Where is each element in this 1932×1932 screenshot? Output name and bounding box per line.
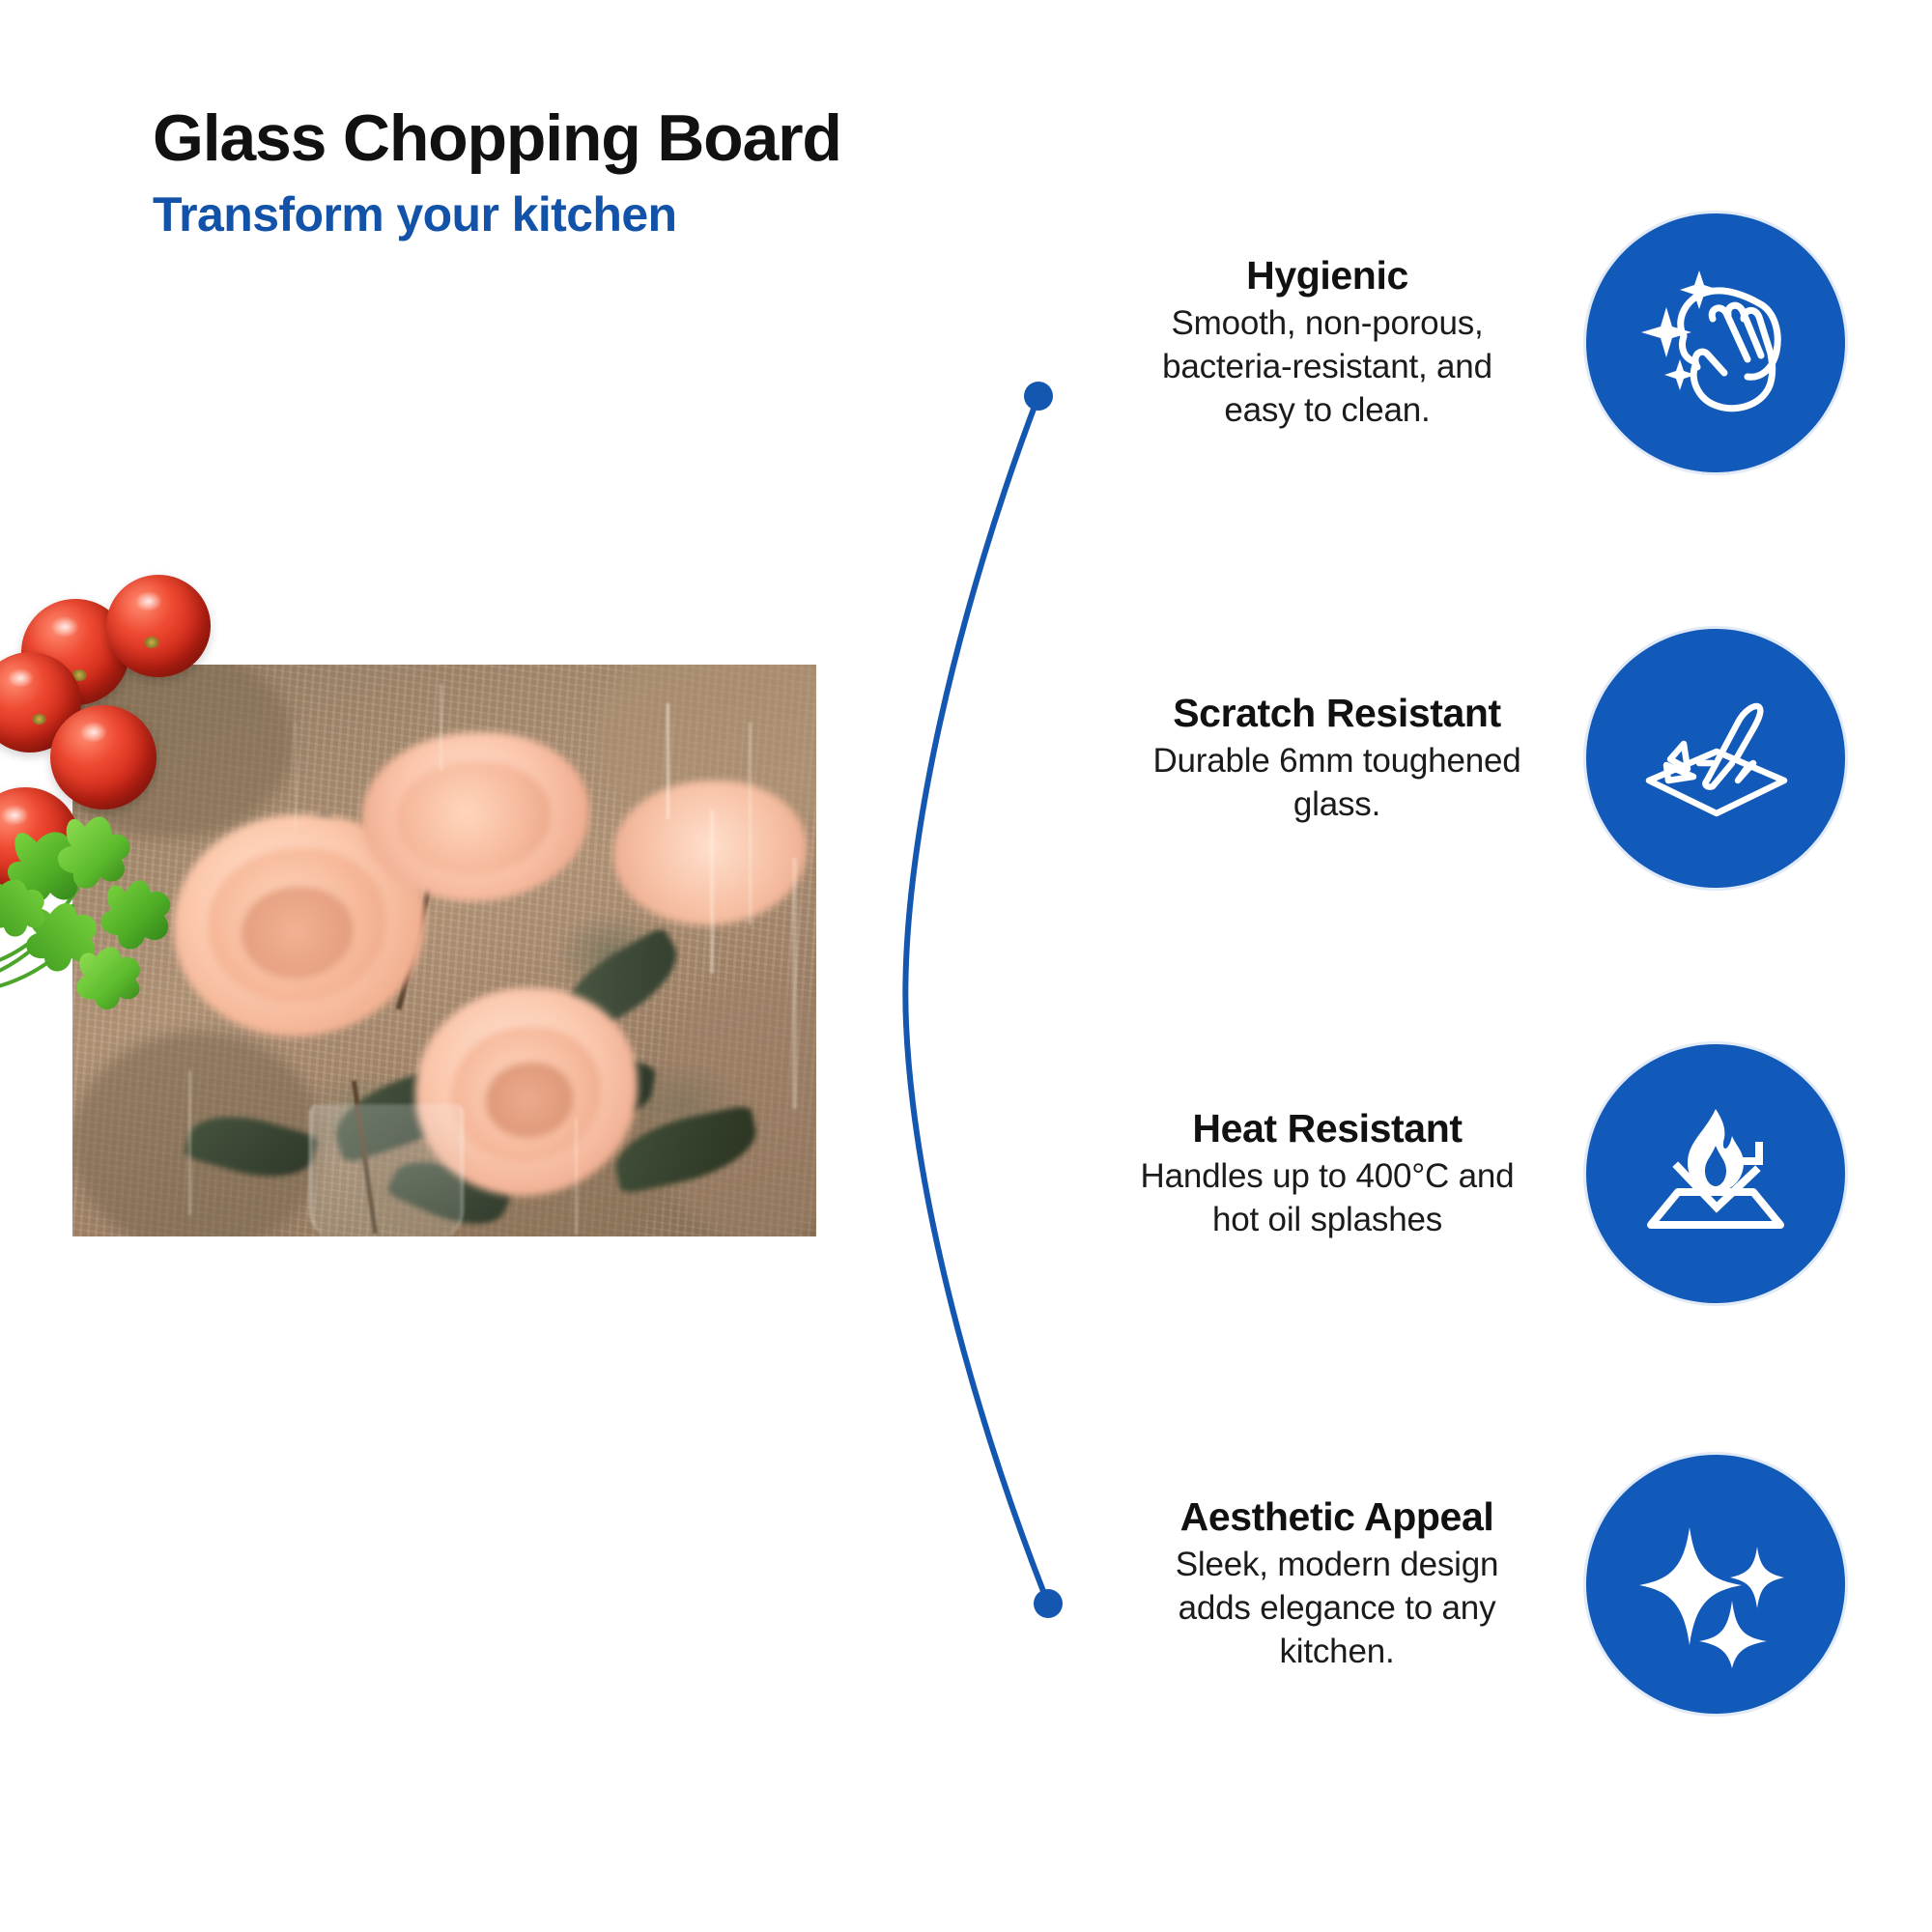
- product-image-area: [0, 599, 869, 1314]
- feature-text: Heat Resistant Handles up to 400°C and h…: [1124, 1106, 1530, 1242]
- feature-title: Scratch Resistant: [1144, 691, 1530, 736]
- cherry-tomato: [106, 575, 211, 677]
- knife-impact-surface-icon: [1624, 667, 1807, 850]
- feature-aesthetic-appeal: Aesthetic Appeal Sleek, modern design ad…: [1063, 1454, 1845, 1715]
- feature-description: Durable 6mm toughened glass.: [1144, 740, 1530, 827]
- header: Glass Chopping Board Transform your kitc…: [153, 104, 1215, 241]
- glass-vase: [309, 1104, 464, 1236]
- feature-icon-circle: [1586, 1455, 1845, 1714]
- paint-stroke: [440, 684, 442, 771]
- tomato-stem-scar: [32, 714, 46, 724]
- feature-description: Sleek, modern design adds elegance to an…: [1144, 1544, 1530, 1673]
- feature-icon-circle: [1586, 1044, 1845, 1303]
- feature-heat-resistant: Heat Resistant Handles up to 400°C and h…: [1063, 1043, 1845, 1304]
- feature-scratch-resistant: Scratch Resistant Durable 6mm toughened …: [1063, 628, 1845, 889]
- hand-wipe-sparkle-icon: [1624, 251, 1807, 435]
- feature-text: Scratch Resistant Durable 6mm toughened …: [1144, 691, 1530, 827]
- paint-stroke: [710, 810, 714, 974]
- connector-endpoint-bottom: [1034, 1589, 1063, 1618]
- feature-title: Heat Resistant: [1124, 1106, 1530, 1151]
- tomato-stem-scar: [144, 637, 159, 648]
- feature-text: Hygienic Smooth, non-porous, bacteria-re…: [1124, 253, 1530, 433]
- paint-stroke: [188, 1070, 191, 1215]
- feature-description: Handles up to 400°C and hot oil splashes: [1124, 1155, 1530, 1242]
- flame-deflect-surface-icon: [1624, 1082, 1807, 1265]
- feature-description: Smooth, non-porous, bacteria-resistant, …: [1124, 302, 1530, 432]
- page-subtitle: Transform your kitchen: [153, 188, 1215, 241]
- feature-hygienic: Hygienic Smooth, non-porous, bacteria-re…: [1063, 213, 1845, 473]
- feature-title: Aesthetic Appeal: [1144, 1494, 1530, 1540]
- connector-endpoint-top: [1024, 382, 1053, 411]
- paint-stroke: [749, 723, 752, 925]
- paint-stroke: [295, 723, 297, 829]
- paint-stroke: [667, 703, 669, 819]
- feature-title: Hygienic: [1124, 253, 1530, 298]
- sparkles-icon: [1624, 1492, 1807, 1676]
- feature-icon-circle: [1586, 213, 1845, 472]
- parsley-garnish: [0, 792, 222, 1014]
- feature-icon-circle: [1586, 629, 1845, 888]
- page-title: Glass Chopping Board: [153, 104, 1215, 173]
- paint-stroke: [575, 1119, 578, 1235]
- feature-text: Aesthetic Appeal Sleek, modern design ad…: [1144, 1494, 1530, 1674]
